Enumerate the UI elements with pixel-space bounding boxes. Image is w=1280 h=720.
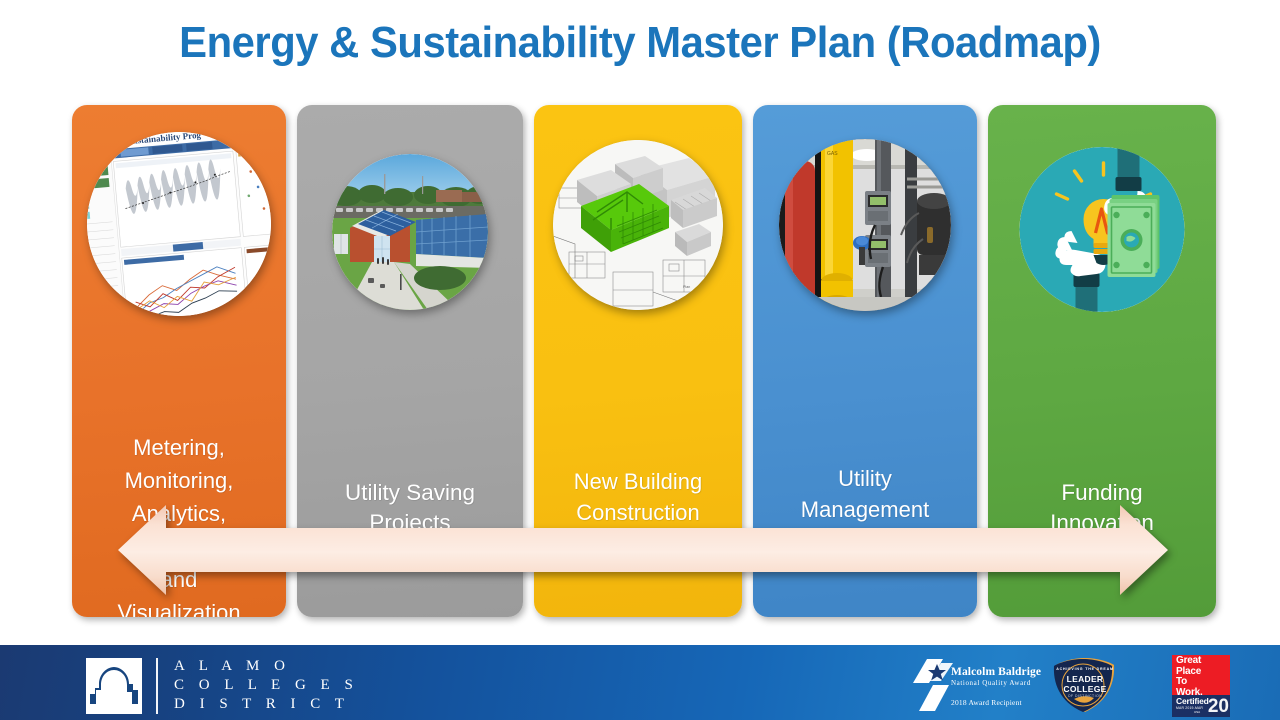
svg-text:GAS: GAS (827, 151, 838, 157)
alamo-facade-icon (86, 658, 142, 714)
card-photo-mechanical-room: GAS (779, 139, 951, 311)
funding-lightbulb-money-illustration (1020, 147, 1185, 312)
page-title: Energy & Sustainability Master Plan (Roa… (32, 18, 1248, 68)
energy-dashboard-screenshot: Sustainability Prog (87, 132, 271, 316)
card-photo-building-model: Plan (553, 140, 723, 310)
gptw-line-1: Great (1172, 655, 1230, 666)
logo-divider (156, 658, 158, 714)
alamo-word-line-3: D I S T R I C T (174, 695, 358, 714)
alamo-word-line-2: C O L L E G E S (174, 676, 358, 695)
double-headed-arrow (118, 503, 1168, 597)
building-model-blueprint-photo: Plan (553, 140, 723, 310)
baldrige-text-block: Malcolm Baldrige National Quality Award … (951, 666, 1041, 707)
alamo-facade-mark (86, 658, 142, 714)
leader-college-badge: ACHIEVING THE DREAM LEADER COLLEGE OF DI… (1052, 657, 1118, 713)
great-place-to-work-certified-logo: Great Place To Work. Certified MAR 2019-… (1172, 655, 1230, 717)
gptw-red-block: Great Place To Work. (1172, 655, 1230, 695)
malcolm-baldrige-award-logo: Malcolm Baldrige National Quality Award … (913, 659, 1031, 711)
baldrige-title: Malcolm Baldrige (951, 666, 1041, 678)
leader-college-top-text: ACHIEVING THE DREAM (1052, 667, 1118, 671)
gptw-line-3: To (1172, 676, 1230, 687)
alamo-colleges-district-logo: A L A M O C O L L E G E S D I S T R I C … (86, 657, 358, 714)
baldrige-star-icon (913, 659, 953, 711)
alamo-word-line-1: A L A M O (174, 657, 358, 676)
svg-text:Plan: Plan (683, 285, 690, 289)
leader-college-line1: LEADER (1052, 674, 1118, 684)
footer-bar: A L A M O C O L L E G E S D I S T R I C … (0, 645, 1280, 720)
leader-college-line3: OF DISTINCTION (1052, 694, 1118, 698)
baldrige-subtitle: National Quality Award (951, 679, 1041, 687)
gptw-line-2: Place (1172, 666, 1230, 677)
baldrige-year: 2018 Award Recipient (951, 698, 1041, 707)
card-photo-funding-illustration (1020, 147, 1185, 312)
gptw-navy-block: Certified MAR 2019-MAR USA 20 (1172, 695, 1230, 717)
leader-college-line2: COLLEGE (1052, 684, 1118, 694)
alamo-wordmark: A L A M O C O L L E G E S D I S T R I C … (174, 657, 358, 714)
card-photo-energy-dashboard: Sustainability Prog (87, 132, 271, 316)
card-photo-solar-campus (332, 154, 488, 310)
mechanical-room-piping-photo: GAS (779, 139, 951, 311)
solar-panel-campus-building-photo (332, 154, 488, 310)
gptw-year-number: 20 (1208, 697, 1229, 716)
